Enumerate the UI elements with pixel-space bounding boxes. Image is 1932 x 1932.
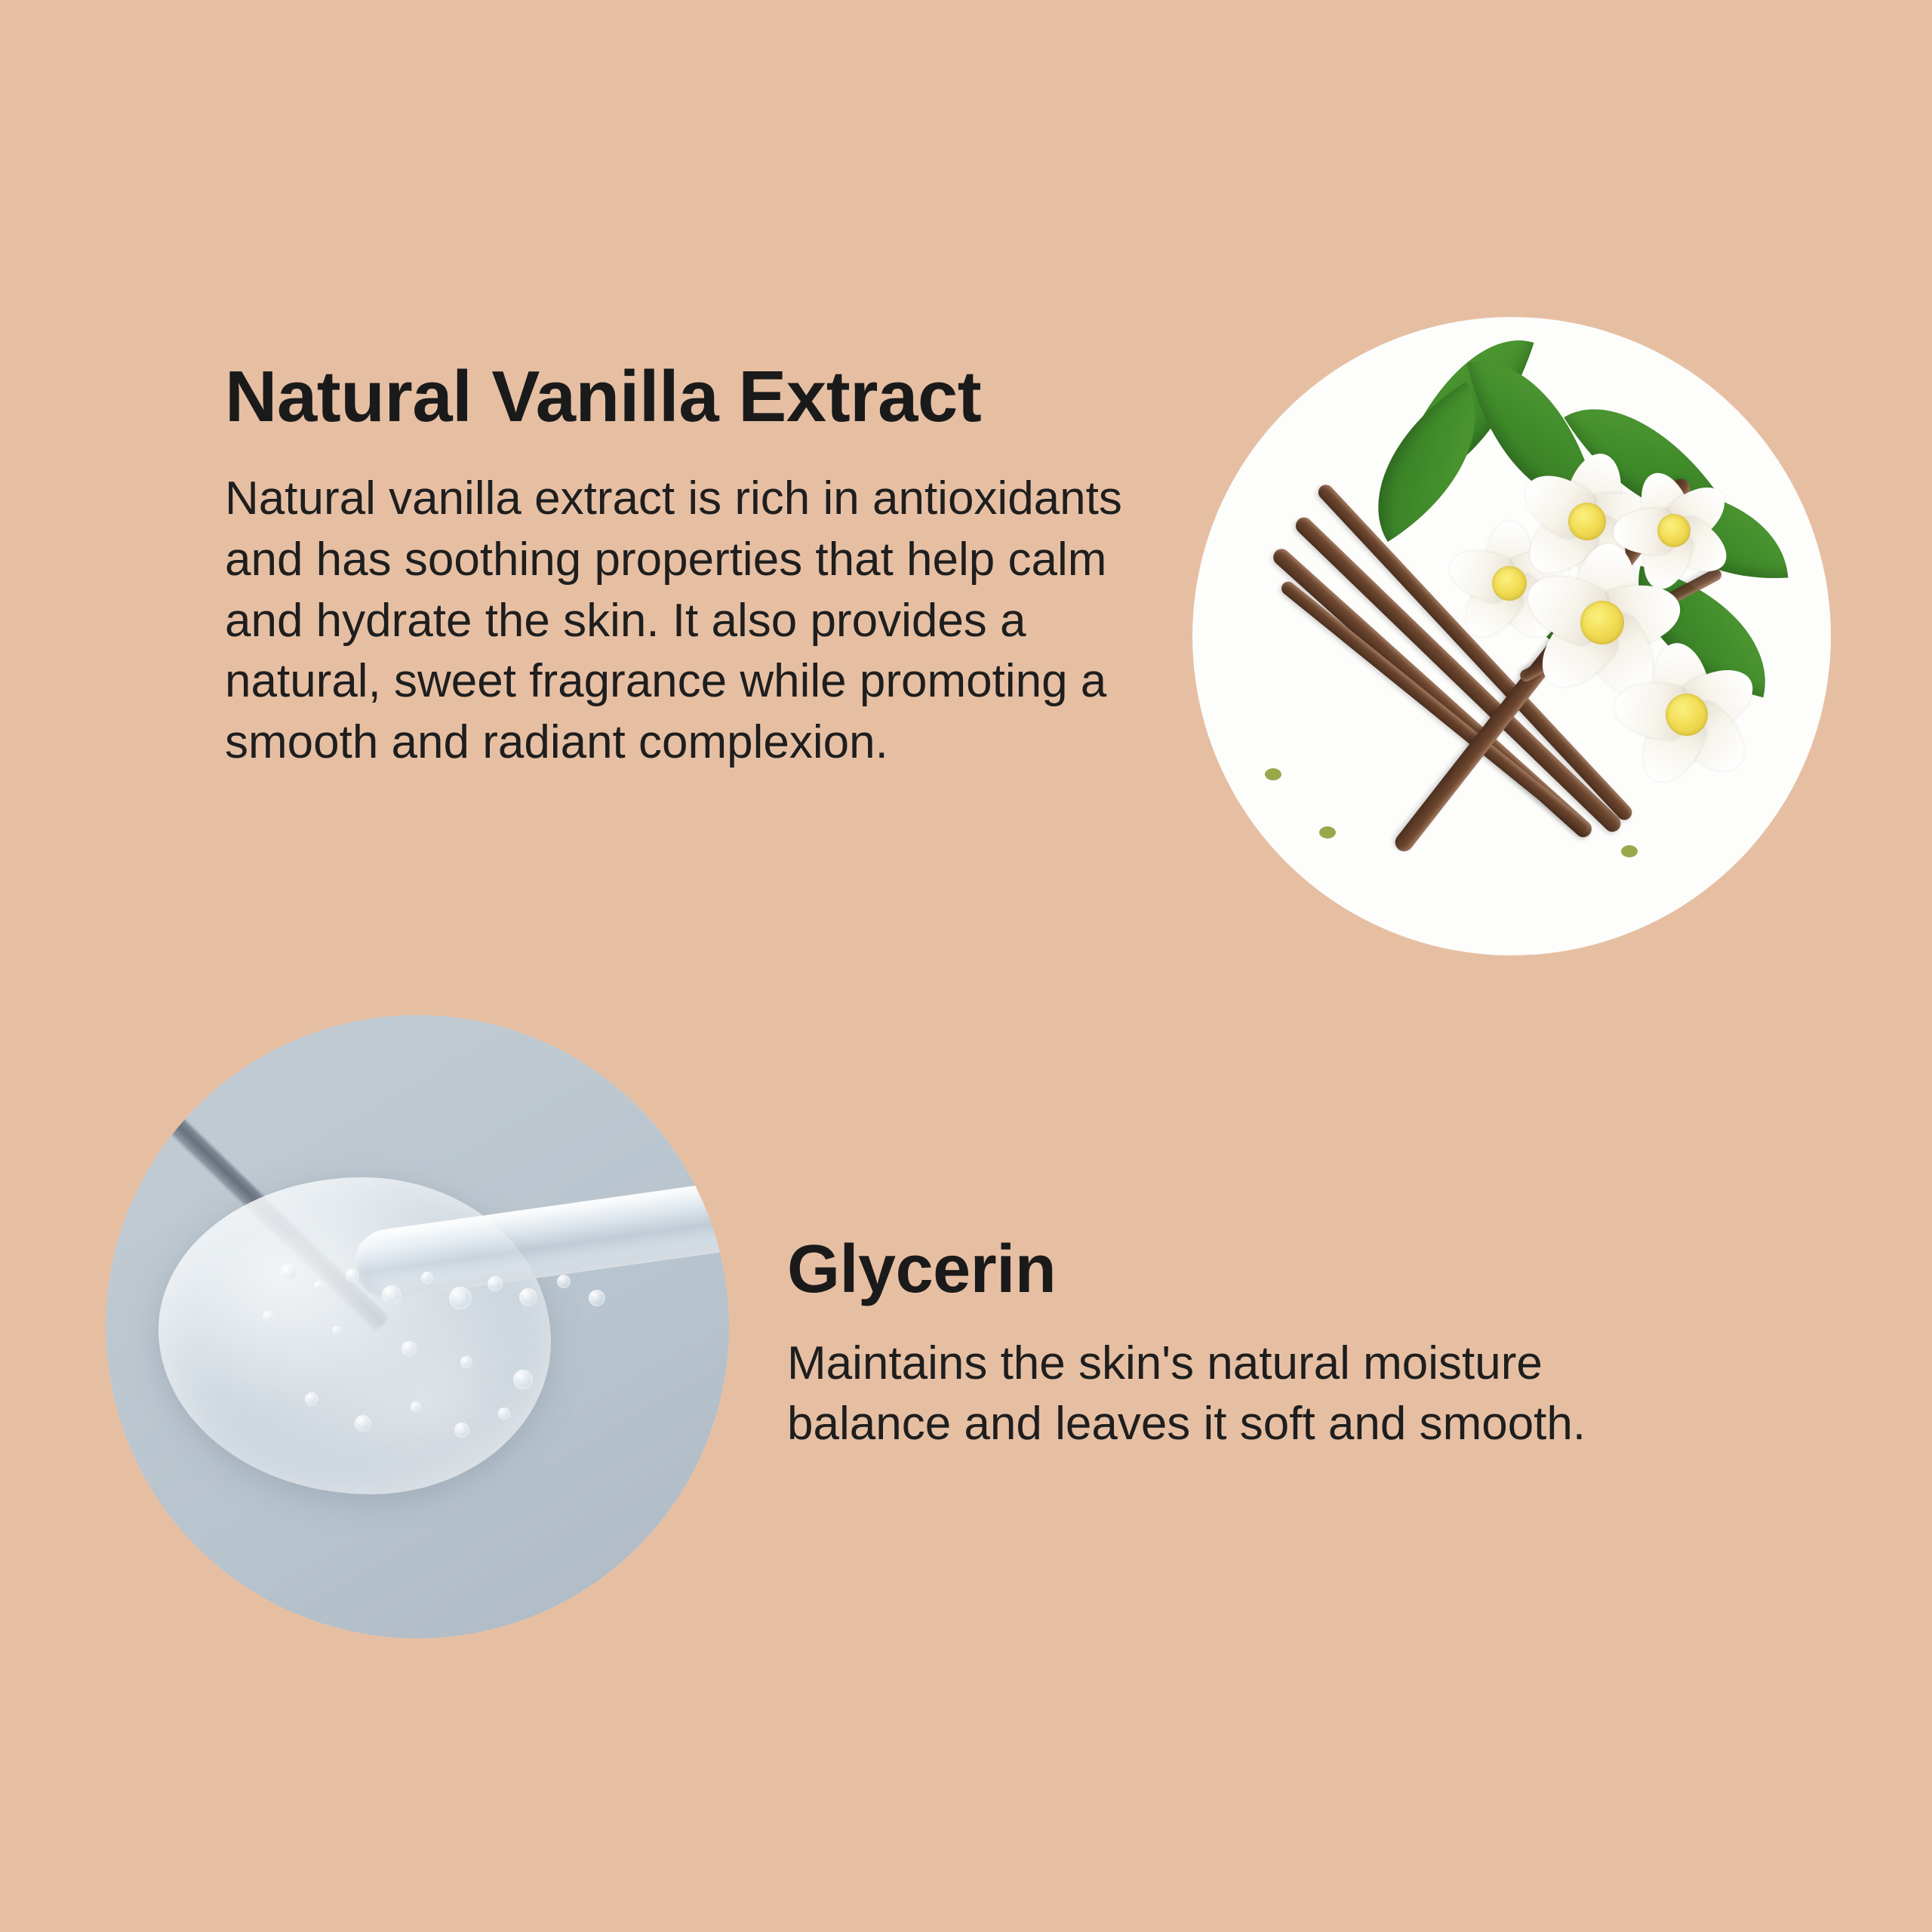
bubble-icon bbox=[589, 1290, 605, 1306]
vanilla-flower-icon bbox=[1615, 643, 1758, 786]
bubble-icon bbox=[498, 1407, 510, 1420]
vanilla-body-text: Natural vanilla extract is rich in antio… bbox=[225, 469, 1161, 773]
glycerin-text-block: Glycerin Maintains the skin's natural mo… bbox=[787, 1232, 1678, 1455]
bean-tip-icon bbox=[1621, 845, 1638, 857]
ingredient-infographic-page: Natural Vanilla Extract Natural vanilla … bbox=[0, 0, 1932, 1932]
bubble-icon bbox=[305, 1392, 318, 1406]
vanilla-heading: Natural Vanilla Extract bbox=[225, 355, 1161, 438]
bubble-icon bbox=[411, 1401, 421, 1412]
bubble-icon bbox=[513, 1370, 533, 1389]
bubble-icon bbox=[263, 1311, 275, 1323]
bubble-icon bbox=[488, 1276, 503, 1291]
bubble-icon bbox=[281, 1264, 297, 1281]
bubble-icon bbox=[460, 1356, 472, 1368]
bubble-icon bbox=[382, 1285, 401, 1305]
bubble-icon bbox=[346, 1269, 359, 1282]
bubble-icon bbox=[421, 1272, 433, 1284]
glycerin-body-text: Maintains the skin's natural moisture ba… bbox=[787, 1334, 1678, 1455]
bubble-icon bbox=[519, 1288, 537, 1306]
vanilla-beans-and-flowers-photo bbox=[1192, 317, 1831, 955]
bubble-icon bbox=[557, 1275, 571, 1288]
vanilla-photo-inner bbox=[1192, 317, 1831, 955]
bubble-icon bbox=[332, 1326, 341, 1335]
bubble-icon bbox=[314, 1281, 325, 1291]
bean-tip-icon bbox=[1319, 826, 1336, 838]
bubble-icon bbox=[454, 1423, 469, 1438]
bean-tip-icon bbox=[1265, 768, 1281, 780]
bubble-icon bbox=[401, 1341, 417, 1356]
glycerin-heading: Glycerin bbox=[787, 1232, 1678, 1308]
bubble-icon bbox=[355, 1415, 371, 1432]
glycerin-gel-dropper-photo bbox=[106, 1015, 729, 1638]
bubble-icon bbox=[449, 1287, 472, 1309]
glycerin-photo-inner bbox=[106, 1015, 729, 1638]
vanilla-text-block: Natural Vanilla Extract Natural vanilla … bbox=[225, 355, 1161, 773]
